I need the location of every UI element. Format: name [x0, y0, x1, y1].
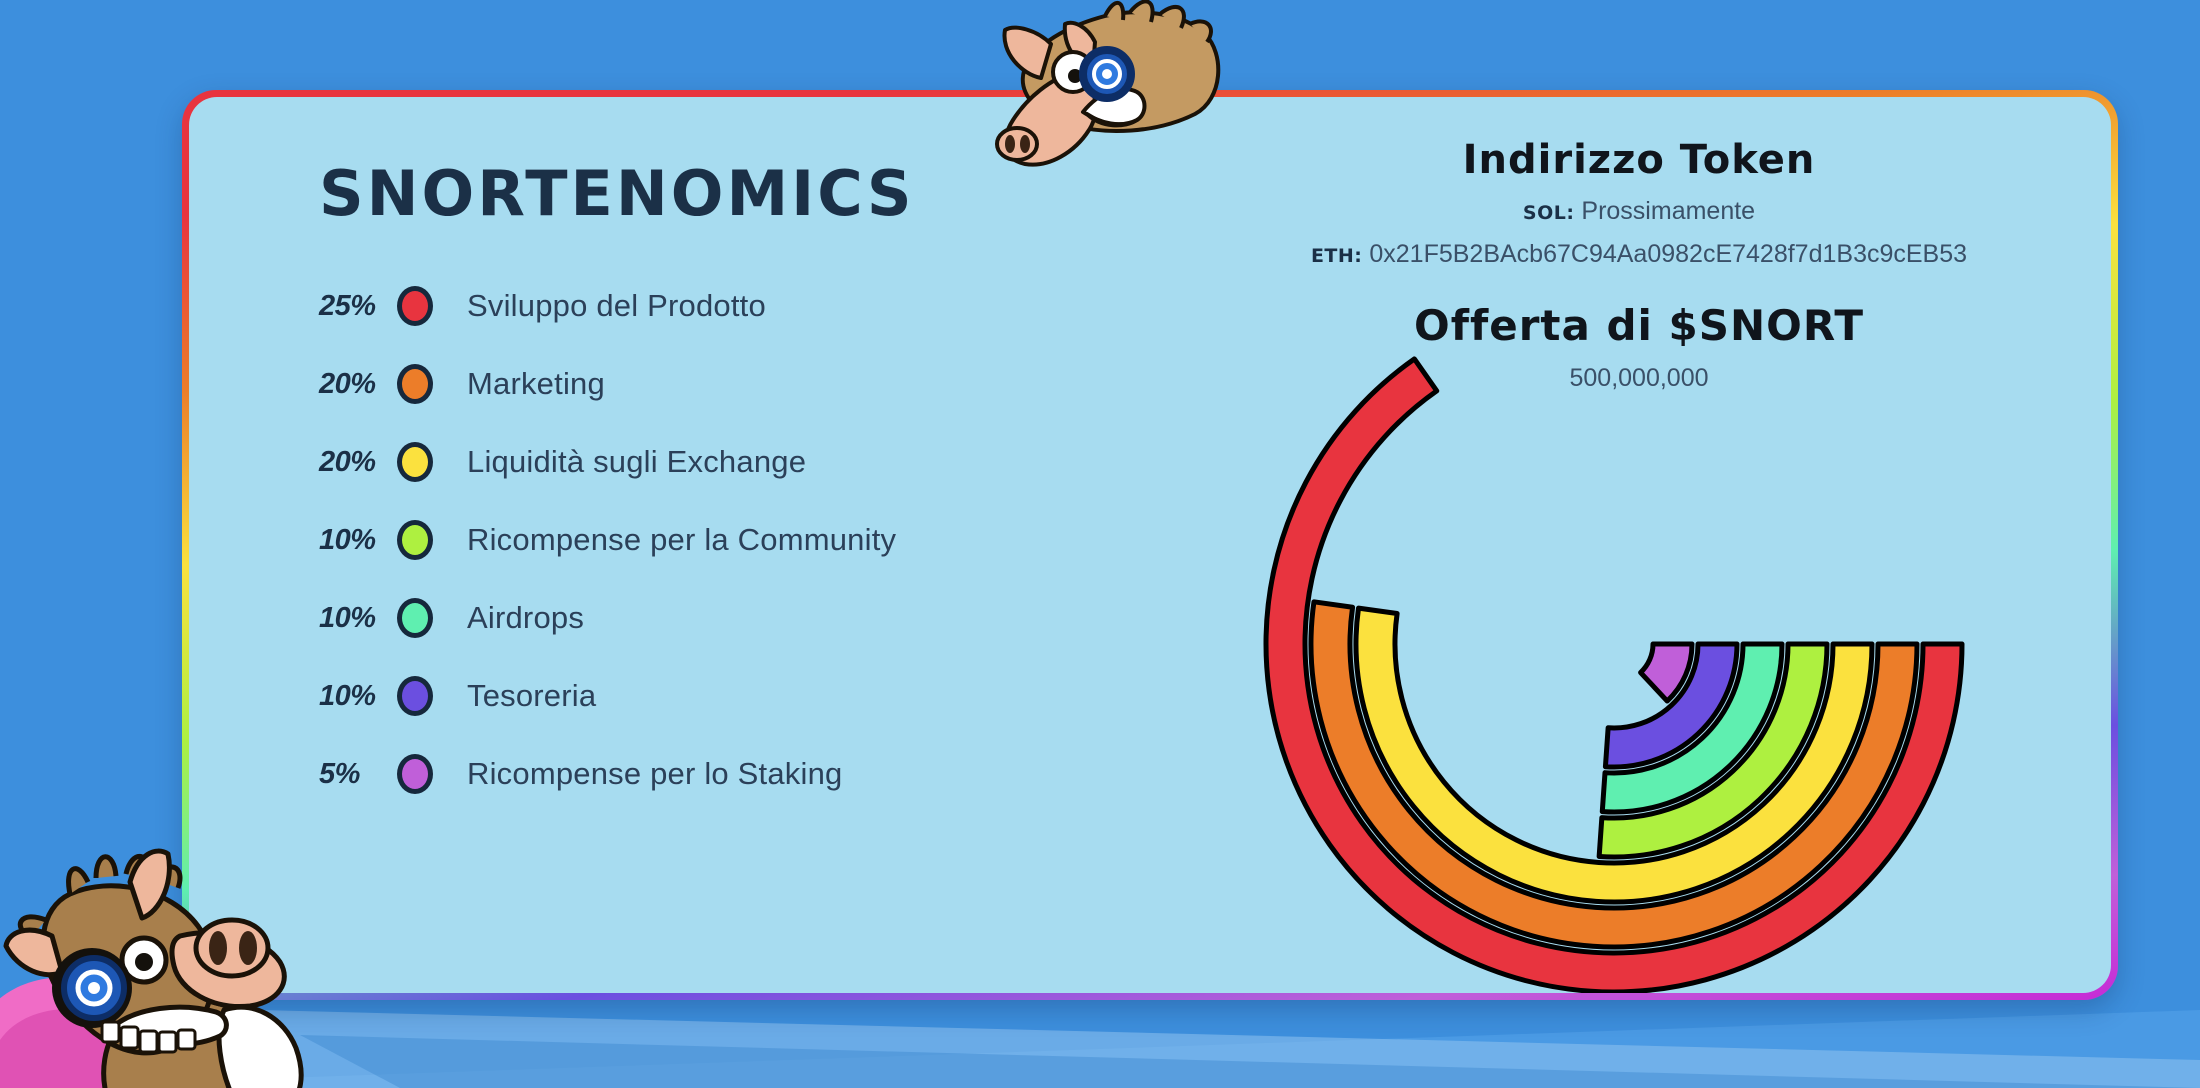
tokenomics-section: SNORTENOMICS 25% Sviluppo del Prodotto 2…	[319, 157, 1199, 798]
legend-color-dot	[397, 520, 433, 560]
sol-address-value[interactable]: Prossimamente	[1581, 197, 1755, 225]
main-card: SNORTENOMICS 25% Sviluppo del Prodotto 2…	[182, 90, 2118, 1000]
eth-chain-label: ETH:	[1311, 245, 1362, 267]
legend-color-dot	[397, 598, 433, 638]
sol-address-row: SOL: Prossimamente	[1199, 197, 2079, 226]
poster-canvas: SNORTENOMICS 25% Sviluppo del Prodotto 2…	[0, 0, 2200, 1088]
legend-item[interactable]: 10% Ricompense per la Community	[319, 516, 1199, 564]
legend-item[interactable]: 5% Ricompense per lo Staking	[319, 750, 1199, 798]
legend-color-dot	[397, 676, 433, 716]
eth-address-value[interactable]: 0x21F5B2BAcb67C94Aa0982cE7428f7d1B3c9cEB…	[1369, 240, 1967, 268]
legend-item[interactable]: 20% Marketing	[319, 360, 1199, 408]
legend-label: Ricompense per lo Staking	[467, 756, 842, 792]
legend-label: Sviluppo del Prodotto	[467, 288, 766, 324]
legend-label: Liquidità sugli Exchange	[467, 444, 806, 480]
legend-color-dot	[397, 286, 433, 326]
legend-percent: 20%	[319, 368, 397, 401]
legend-label: Ricompense per la Community	[467, 522, 896, 558]
token-address-title: Indirizzo Token	[1199, 137, 2079, 183]
eth-address-row: ETH: 0x21F5B2BAcb67C94Aa0982cE7428f7d1B3…	[1199, 240, 2079, 269]
legend-percent: 20%	[319, 446, 397, 479]
legend-color-dot	[397, 364, 433, 404]
radial-chart-svg	[1164, 292, 2064, 992]
legend-percent: 25%	[319, 290, 397, 323]
boar-mascot-icon	[0, 840, 414, 1088]
legend-item[interactable]: 20% Liquidità sugli Exchange	[319, 438, 1199, 486]
legend-item[interactable]: 25% Sviluppo del Prodotto	[319, 282, 1199, 330]
legend-label: Tesoreria	[467, 678, 596, 714]
legend-item[interactable]: 10% Airdrops	[319, 594, 1199, 642]
legend-color-dot	[397, 442, 433, 482]
tokenomics-legend: 25% Sviluppo del Prodotto 20% Marketing …	[319, 282, 1199, 798]
legend-label: Airdrops	[467, 600, 584, 636]
boar-head-icon	[955, 0, 1255, 184]
legend-percent: 5%	[319, 758, 397, 791]
legend-color-dot	[397, 754, 433, 794]
sol-chain-label: SOL:	[1523, 202, 1575, 224]
legend-percent: 10%	[319, 680, 397, 713]
legend-percent: 10%	[319, 524, 397, 557]
legend-percent: 10%	[319, 602, 397, 635]
legend-label: Marketing	[467, 366, 605, 402]
tokenomics-radial-chart	[1164, 292, 2064, 992]
legend-item[interactable]: 10% Tesoreria	[319, 672, 1199, 720]
